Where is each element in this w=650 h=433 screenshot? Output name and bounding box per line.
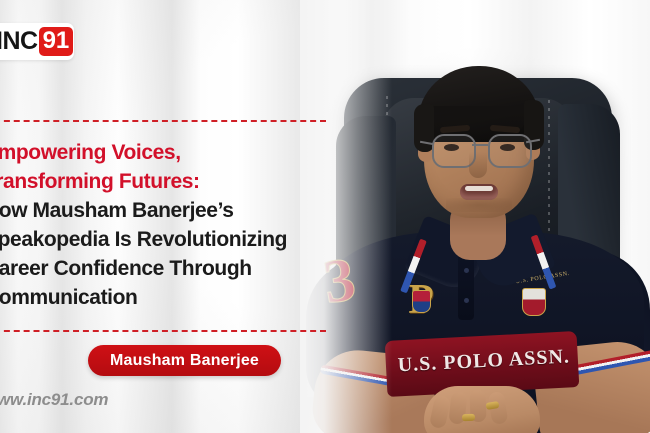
- shirt-crest-right-badge: [522, 288, 546, 316]
- polo-button-bottom: [464, 298, 469, 303]
- headline-line-1: Empowering Voices,: [0, 138, 314, 167]
- headline-line-3: How Mausham Banerjee’s: [0, 196, 314, 225]
- person-name-label: Mausham Banerjee: [110, 352, 259, 370]
- subject-photo: 3 U.S. POLO ASSN. P U.S. POLO ASSN.: [300, 0, 650, 433]
- headline-line-5: Career Confidence Through: [0, 254, 314, 283]
- eyeglasses-bridge: [472, 144, 488, 146]
- chair-stitching-right: [548, 100, 550, 250]
- article-thumbnail-card: 3 U.S. POLO ASSN. P U.S. POLO ASSN.: [0, 0, 650, 433]
- chin-shadow: [446, 198, 512, 212]
- logo-text-inc: INC: [0, 29, 38, 54]
- shirt-brand-text: U.S. POLO ASSN.: [393, 345, 574, 377]
- shirt-crest-shield: [412, 290, 431, 313]
- headline-line-2: Transforming Futures:: [0, 167, 314, 196]
- website-url[interactable]: www.inc91.com: [0, 390, 108, 410]
- polo-button-top: [464, 268, 469, 273]
- inc91-logo[interactable]: INC 91: [0, 23, 74, 60]
- divider-bottom: [0, 330, 326, 332]
- eyeglasses-lens-right: [488, 134, 532, 168]
- headline-line-6: Communication: [0, 283, 314, 312]
- divider-top: [0, 120, 326, 122]
- finger-ring: [462, 414, 475, 421]
- teeth: [465, 186, 493, 191]
- headline-line-4: Speakopedia Is Revolutionizing: [0, 225, 314, 254]
- logo-text-91: 91: [39, 27, 74, 56]
- headline: Empowering Voices, Transforming Futures:…: [0, 138, 314, 312]
- polo-placket: [458, 254, 474, 320]
- nose: [469, 152, 487, 178]
- person-name-badge: Mausham Banerjee: [88, 345, 281, 376]
